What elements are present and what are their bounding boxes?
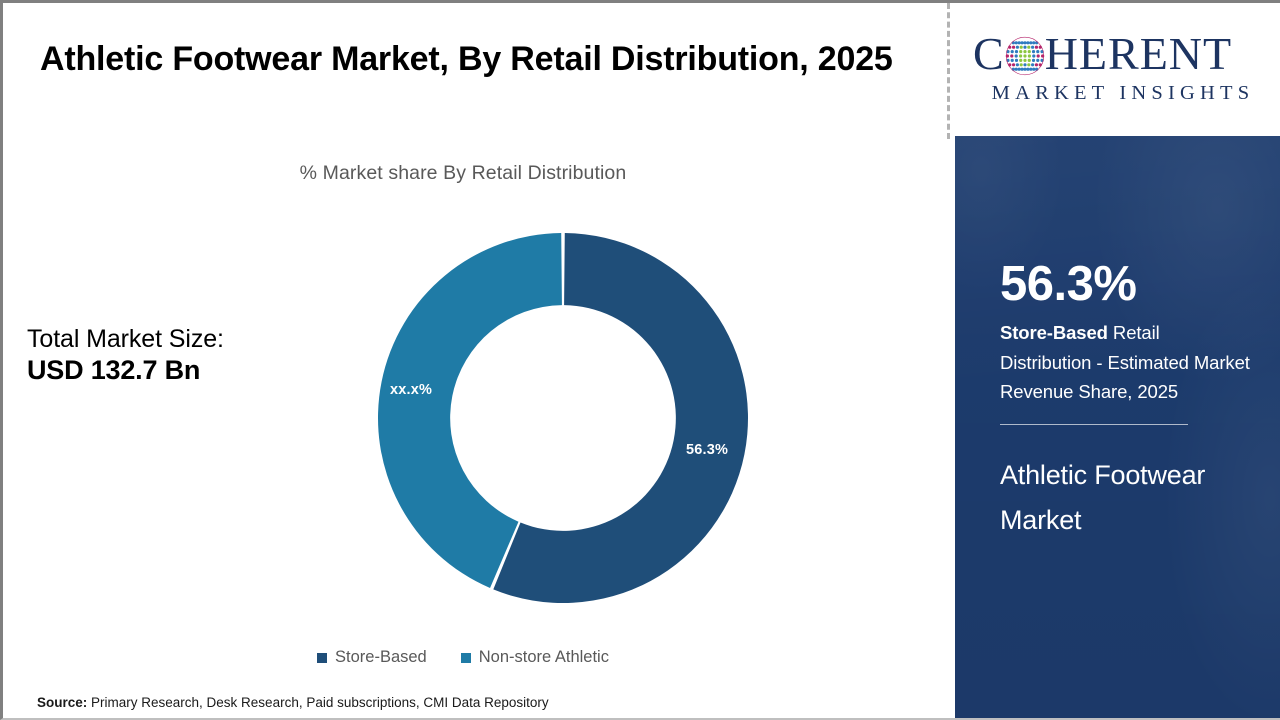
highlight-panel: 56.3% Store-Based Retail Distribution - … <box>955 136 1280 720</box>
brand-logo[interactable]: C HERENT MARKET INSIGHTS <box>955 3 1280 136</box>
source-text: Primary Research, Desk Research, Paid su… <box>87 695 548 710</box>
legend-label-store-based: Store-Based <box>335 648 427 667</box>
donut-chart-svg <box>378 233 748 603</box>
panel-stat-value: 56.3% <box>1000 259 1252 310</box>
vertical-dashed-divider <box>947 3 950 139</box>
panel-divider-rule <box>1000 424 1188 425</box>
left-content-pane: Athletic Footwear Market, By Retail Dist… <box>3 3 947 720</box>
donut-chart: xx.x% 56.3% <box>378 233 748 603</box>
legend-swatch-store-based <box>317 653 327 663</box>
logo-letter-c: C <box>973 31 1005 77</box>
globe-icon <box>1005 36 1045 76</box>
logo-wordmark-rest: HERENT <box>1045 31 1232 77</box>
panel-market-name: Athletic Footwear Market <box>1000 453 1252 544</box>
legend-item-store-based[interactable]: Store-Based <box>317 648 427 667</box>
logo-inner: C HERENT MARKET INSIGHTS <box>973 30 1269 105</box>
chart-subtitle: % Market share By Retail Distribution <box>3 162 923 185</box>
infographic-canvas: Athletic Footwear Market, By Retail Dist… <box>0 0 1280 720</box>
total-market-size-label: Total Market Size: <box>27 325 347 354</box>
logo-wordmark: C HERENT <box>973 30 1269 78</box>
right-column: C HERENT MARKET INSIGHTS 56.3% Store-Bas… <box>955 3 1280 720</box>
source-label: Source: <box>37 695 87 710</box>
panel-stat-description-bold: Store-Based <box>1000 322 1108 343</box>
slice-label-non-store-athletic: xx.x% <box>390 382 432 398</box>
total-market-size-block: Total Market Size: USD 132.7 Bn <box>27 325 347 387</box>
source-line: Source: Primary Research, Desk Research,… <box>37 695 549 710</box>
logo-tagline: MARKET INSIGHTS <box>973 82 1269 105</box>
panel-stat-description: Store-Based Retail Distribution - Estima… <box>1000 318 1252 406</box>
legend-item-non-store-athletic[interactable]: Non-store Athletic <box>461 648 609 667</box>
page-title: Athletic Footwear Market, By Retail Dist… <box>40 35 920 85</box>
legend-swatch-non-store-athletic <box>461 653 471 663</box>
chart-legend: Store-Based Non-store Athletic <box>3 648 923 667</box>
slice-label-store-based: 56.3% <box>686 442 728 458</box>
total-market-size-value: USD 132.7 Bn <box>27 354 347 387</box>
panel-content: 56.3% Store-Based Retail Distribution - … <box>1000 136 1252 544</box>
legend-label-non-store-athletic: Non-store Athletic <box>479 648 609 667</box>
